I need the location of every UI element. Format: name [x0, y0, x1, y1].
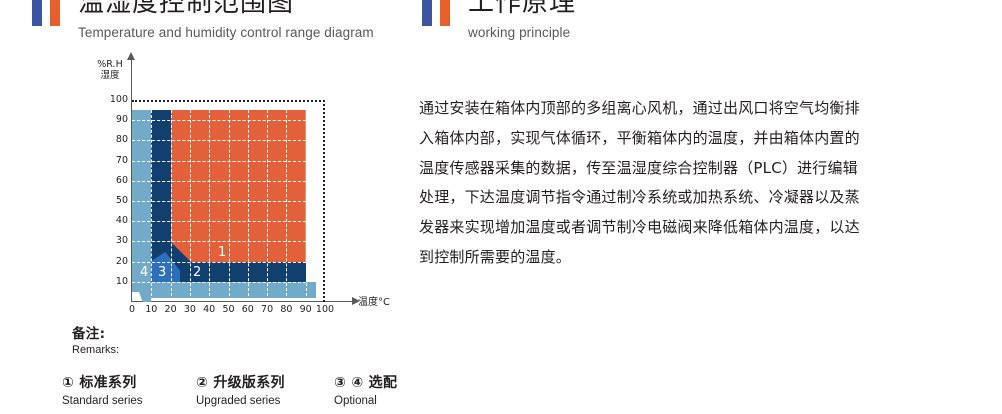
x-tick-100: 100: [314, 304, 336, 315]
legend-item-label-en: Standard series: [62, 395, 143, 407]
legend-item-1: ① 标准系列Standard series: [62, 372, 143, 407]
header-accent-bars: [422, 4, 454, 30]
principle-line-2: 入箱体内部，实现气体循环，平衡箱体内的温度，并由箱体内置的: [419, 124, 987, 154]
remarks-block: 备注: Remarks:: [72, 322, 119, 356]
principle-line-3: 温度传感器采集的数据，传至温湿度综合控制器（PLC）进行编辑: [419, 154, 987, 184]
legend-item-label-en: Upgraded series: [196, 395, 285, 407]
legend-item-label-en: Optional: [334, 395, 397, 407]
header-accent-bars: [32, 4, 64, 30]
accent-bar-orange-icon: [50, 0, 60, 26]
y-axis-arrow-icon: [127, 52, 135, 60]
y-tick-80: 80: [100, 134, 128, 145]
y-tick-100: 100: [100, 94, 128, 105]
principle-paragraph: 通过安装在箱体内顶部的多组离心风机，通过出风口将空气均衡排入箱体内部，实现气体循…: [419, 94, 987, 273]
chart-title-en: Temperature and humidity control range d…: [78, 25, 374, 40]
accent-bar-blue-icon: [422, 0, 432, 26]
y-tick-30: 30: [100, 235, 128, 246]
region-label-2: 2: [193, 266, 201, 279]
principle-line-4: 处理，下达温度调节指令通过制冷系统或加热系统、冷凝器以及蒸: [419, 183, 987, 213]
legend-item-2: ② 升级版系列Upgraded series: [196, 372, 285, 407]
chart-title-cn: 温湿度控制范围图: [78, 0, 294, 19]
region-label-3: 3: [158, 266, 166, 279]
y-tick-70: 70: [100, 155, 128, 166]
legend-item-3: ③ ④ 选配Optional: [334, 372, 397, 407]
principle-line-5: 发器来实现增加温度或者调节制冷电磁阀来降低箱体内温度，以达: [419, 213, 987, 243]
y-tick-10: 10: [100, 276, 128, 287]
plot-area: 1 2 3 4: [132, 100, 325, 302]
humidity-temperature-chart: %R.H 湿度 温度°C 102030405060708090100 01020…: [0, 46, 410, 306]
legend-item-label-cn: ② 升级版系列: [196, 372, 285, 392]
legend-item-label-cn: ③ ④ 选配: [334, 372, 397, 392]
principle-title-cn: 工作原理: [468, 0, 576, 19]
region-label-4: 4: [140, 266, 148, 279]
legend-item-label-cn: ① 标准系列: [62, 372, 143, 392]
x-axis-ticks: 0102030405060708090100: [0, 304, 400, 322]
remarks-label-en: Remarks:: [72, 344, 119, 356]
y-axis-ticks: 102030405060708090100: [98, 46, 128, 290]
principle-line-6: 到控制所需要的温度。: [419, 243, 987, 273]
y-tick-20: 20: [100, 256, 128, 267]
principle-title-en: working principle: [468, 25, 570, 40]
y-tick-90: 90: [100, 114, 128, 125]
accent-bar-blue-icon: [32, 0, 42, 26]
y-tick-60: 60: [100, 175, 128, 186]
region-label-1: 1: [218, 246, 226, 259]
y-tick-50: 50: [100, 195, 128, 206]
accent-bar-orange-icon: [440, 0, 450, 26]
principle-line-1: 通过安装在箱体内顶部的多组离心风机，通过出风口将空气均衡排: [419, 94, 987, 124]
y-tick-40: 40: [100, 215, 128, 226]
remarks-label-cn: 备注:: [72, 322, 119, 342]
